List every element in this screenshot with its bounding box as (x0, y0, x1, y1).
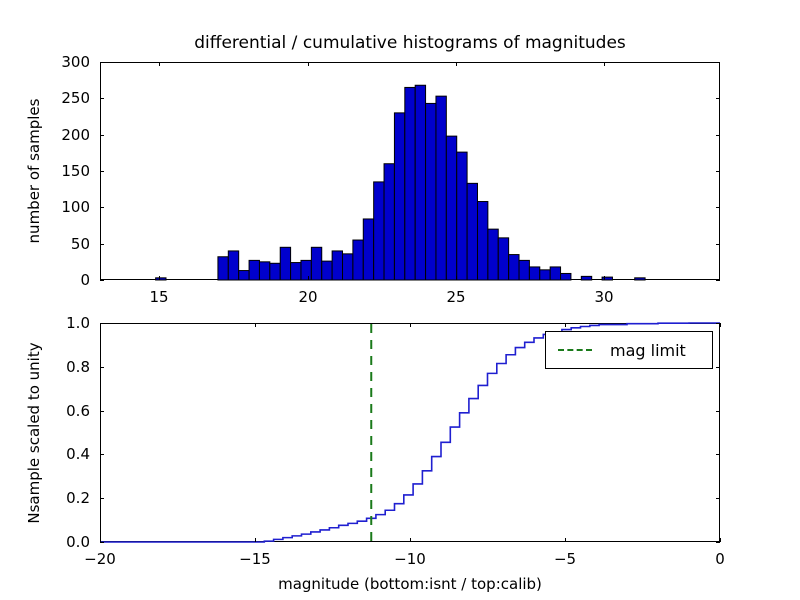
bottom-xtick-top (565, 323, 566, 327)
bottom-xtick-label: −20 (70, 550, 130, 568)
cumulative-histogram-plot (0, 0, 800, 600)
bottom-xtick (410, 538, 411, 542)
bottom-ytick (100, 498, 104, 499)
bottom-xtick-label: 0 (690, 550, 750, 568)
bottom-xtick-top (720, 323, 721, 327)
mag-limit-line-icon (558, 349, 592, 351)
bottom-xtick-label: −5 (535, 550, 595, 568)
bottom-ytick-label: 0.0 (34, 533, 90, 551)
bottom-ytick-label: 1.0 (34, 314, 90, 332)
bottom-xtick-label: −10 (380, 550, 440, 568)
bottom-xtick (565, 538, 566, 542)
bottom-xtick-top (410, 323, 411, 327)
bottom-xtick-top (255, 323, 256, 327)
bottom-xtick (100, 538, 101, 542)
bottom-xtick-label: −15 (225, 550, 285, 568)
bottom-ytick-right (716, 454, 720, 455)
bottom-xtick-top (100, 323, 101, 327)
bottom-xtick (720, 538, 721, 542)
figure-canvas: differential / cumulative histograms of … (0, 0, 800, 600)
bottom-ytick (100, 367, 104, 368)
bottom-ytick (100, 411, 104, 412)
bottom-ytick-right (716, 542, 720, 543)
bottom-ytick (100, 454, 104, 455)
bottom-axis-xlabel: magnitude (bottom:isnt / top:calib) (100, 575, 720, 593)
bottom-xtick (255, 538, 256, 542)
bottom-ytick-right (716, 411, 720, 412)
legend-label-mag-limit: mag limit (610, 341, 686, 360)
bottom-ytick-right (716, 498, 720, 499)
bottom-axis-ylabel: Nsample scaled to unity (25, 342, 43, 523)
bottom-ytick-right (716, 367, 720, 368)
legend[interactable]: mag limit (545, 331, 713, 369)
bottom-ytick (100, 542, 104, 543)
